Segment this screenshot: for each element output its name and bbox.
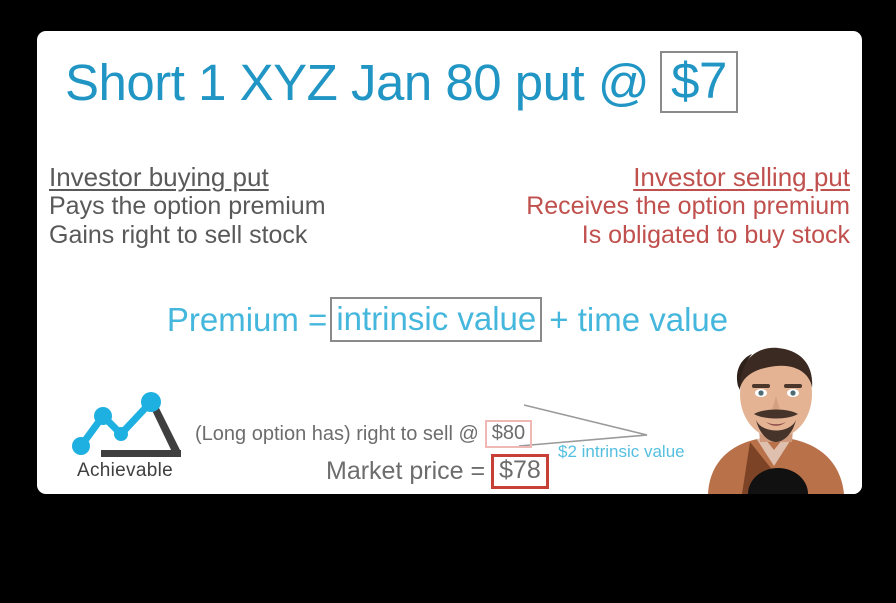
achievable-logo-icon (55, 386, 195, 466)
annotation-market-price: Market price = $78 (326, 454, 549, 489)
title-boxed-price-value: $7 (671, 52, 727, 109)
achievable-logo: Achievable (55, 386, 195, 491)
column-right-heading: Investor selling put (470, 163, 850, 192)
column-left-heading: Investor buying put (49, 163, 429, 192)
presenter-portrait (690, 342, 862, 494)
slide-canvas: Short 1 XYZ Jan 80 put @ $7 Investor buy… (37, 31, 862, 494)
column-right-line-1: Receives the option premium (470, 192, 850, 221)
annotation-market-price-box: $78 (491, 454, 549, 489)
annotation-strike-price-box: $80 (485, 420, 532, 448)
player-controls-bar (0, 494, 896, 603)
intrinsic-value-callout: $2 intrinsic value (558, 442, 685, 462)
formula-lhs: Premium = (167, 303, 327, 336)
title-boxed-price: $7 (660, 51, 738, 113)
formula-rhs: + time value (545, 303, 732, 336)
slide-title-text: Short 1 XYZ Jan 80 put @ (65, 57, 649, 108)
formula-boxed-intrinsic-value: intrinsic value (330, 297, 542, 342)
annotation-right-to-sell: (Long option has) right to sell @ $80 (195, 420, 532, 448)
column-investor-buying: Investor buying put Pays the option prem… (49, 163, 429, 249)
video-player: Short 1 XYZ Jan 80 put @ $7 Investor buy… (0, 0, 896, 603)
column-left-line-2: Gains right to sell stock (49, 221, 429, 250)
presenter-webcam-overlay (690, 342, 862, 494)
premium-formula: Premium = intrinsic value + time value (37, 297, 862, 342)
column-investor-selling: Investor selling put Receives the option… (470, 163, 850, 249)
annotation-row2-text: Market price = (326, 457, 485, 486)
achievable-logo-wordmark: Achievable (55, 460, 195, 482)
slide-title: Short 1 XYZ Jan 80 put @ $7 (65, 49, 835, 115)
annotation-row1-text: (Long option has) right to sell @ (195, 423, 479, 446)
column-right-line-2: Is obligated to buy stock (470, 221, 850, 250)
column-left-line-1: Pays the option premium (49, 192, 429, 221)
